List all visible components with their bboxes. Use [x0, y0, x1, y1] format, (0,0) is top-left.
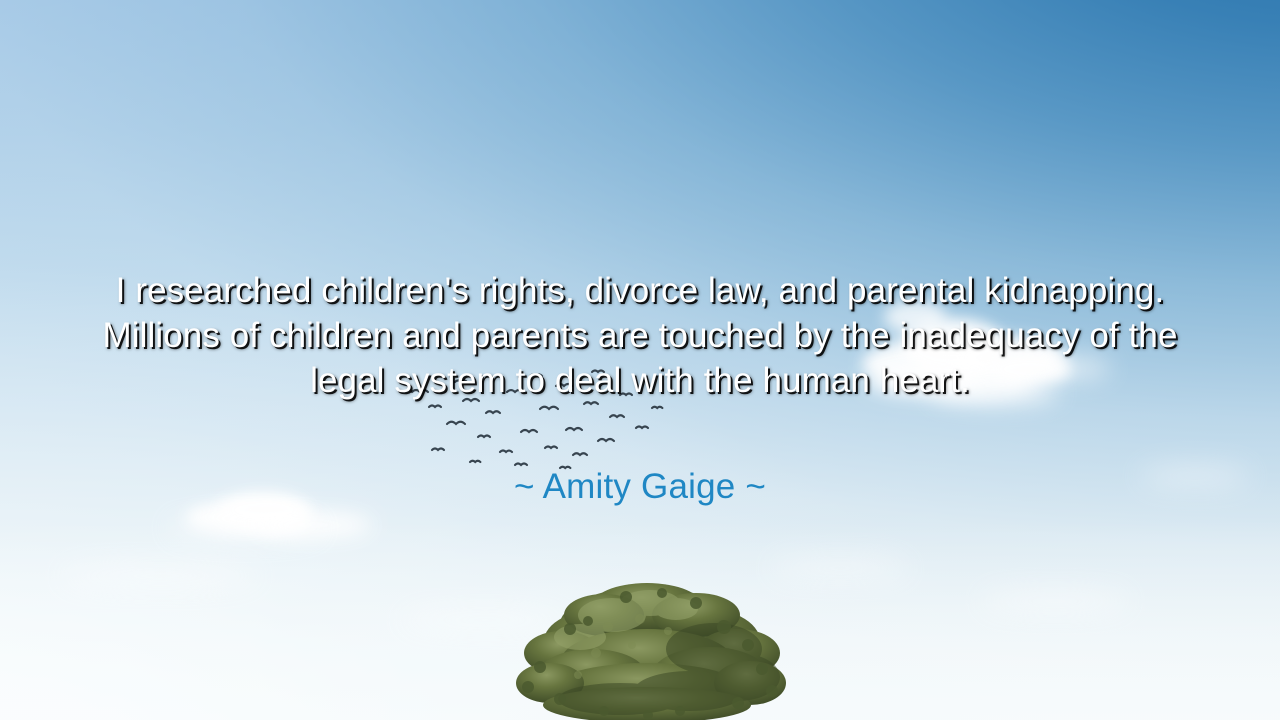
quote-image-canvas: I researched children's rights, divorce …	[0, 0, 1280, 720]
quote-text-layer: I researched children's rights, divorce …	[0, 0, 1280, 720]
quote-body: I researched children's rights, divorce …	[78, 268, 1202, 403]
quote-author: ~ Amity Gaige ~	[0, 466, 1280, 508]
